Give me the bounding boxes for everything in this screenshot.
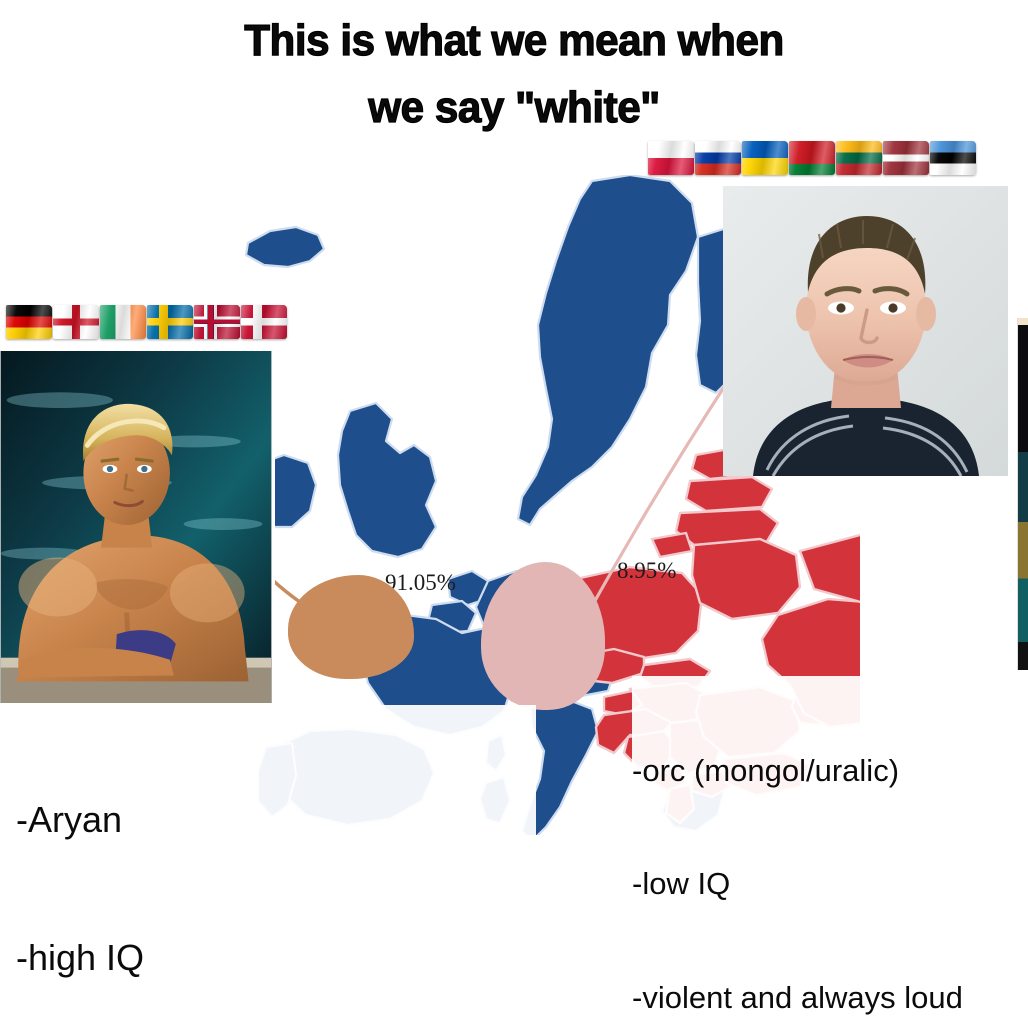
caption-left-list: -Aryan -high IQ -Civilized -They develop… <box>16 705 536 1025</box>
title-line-1: This is what we mean when <box>21 8 1008 75</box>
norway-flag <box>194 305 240 339</box>
denmark-flag <box>241 305 287 339</box>
percent-label-east: 8.95% <box>617 558 676 584</box>
germany-flag <box>6 305 52 339</box>
caption-right-list: -orc (mongol/uralic) -low IQ -violent an… <box>632 676 1024 1025</box>
photo-right-passport-man <box>723 186 1008 476</box>
caption-right-line-2: -low IQ <box>632 865 1024 903</box>
meme-image: This is what we mean when we say "white" <box>0 0 1028 1025</box>
caption-left-line-2: -high IQ <box>16 935 536 981</box>
lithuania-flag <box>836 141 882 175</box>
ukraine-flag <box>742 141 788 175</box>
map-country-latvia <box>686 477 772 511</box>
poland-flag <box>648 141 694 175</box>
caption-right-line-3: -violent and always loud <box>632 979 1024 1017</box>
skin-tone-blob-west <box>288 575 414 679</box>
edge-image-sliver <box>1017 318 1028 670</box>
map-country-kaliningrad <box>652 533 692 557</box>
map-country-belarus <box>692 539 800 619</box>
england-flag <box>53 305 99 339</box>
map-country-iceland <box>246 227 324 267</box>
ireland-flag <box>100 305 146 339</box>
photo-left-blond-man <box>0 348 275 706</box>
sweden-flag <box>147 305 193 339</box>
map-country-uk <box>338 403 436 557</box>
map-country-scandinavia <box>518 175 698 525</box>
latvia-flag <box>883 141 929 175</box>
russia-flag <box>695 141 741 175</box>
belarus-flag <box>789 141 835 175</box>
flag-strip-west <box>6 305 287 339</box>
title-line-2: we say "white" <box>21 75 1008 142</box>
flag-strip-east <box>648 141 976 175</box>
caption-right-line-1: -orc (mongol/uralic) <box>632 752 1024 790</box>
caption-left-line-1: -Aryan <box>16 797 536 843</box>
page-title: This is what we mean when we say "white" <box>21 8 1008 142</box>
estonia-flag <box>930 141 976 175</box>
